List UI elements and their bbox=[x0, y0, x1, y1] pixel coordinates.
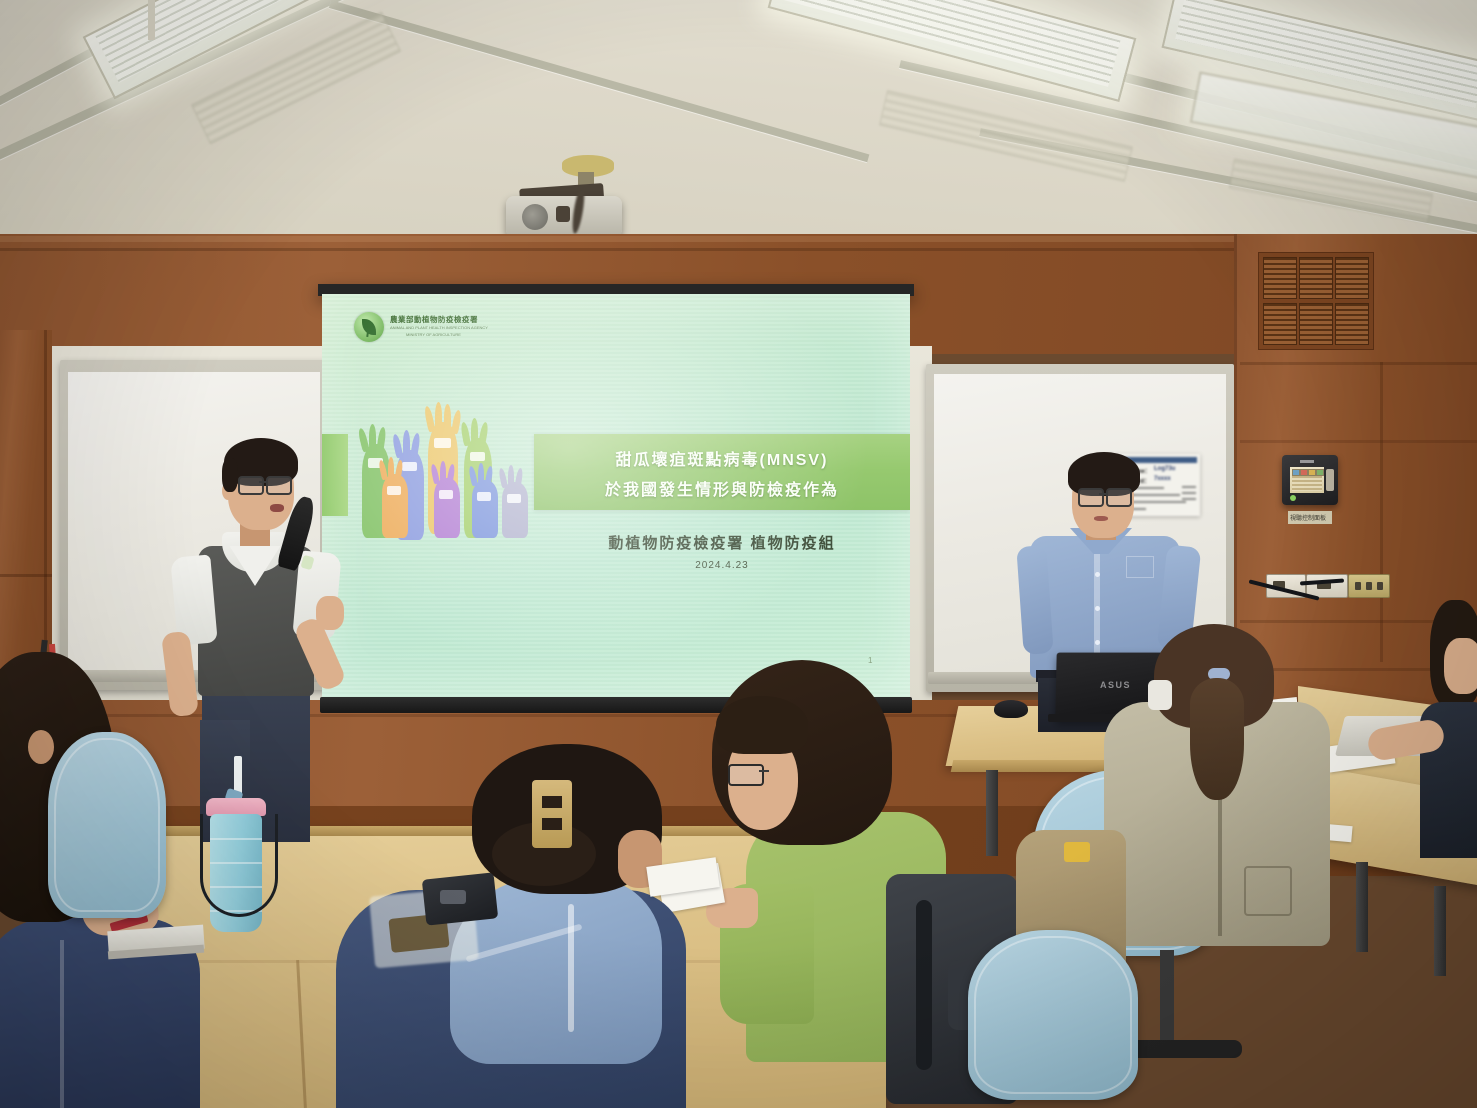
vent-louver bbox=[1299, 303, 1333, 345]
backpack-strap bbox=[916, 900, 932, 1070]
hair-clip-notch bbox=[542, 818, 562, 830]
presenter-glasses-bridge bbox=[259, 481, 267, 483]
host-glasses-bridge bbox=[1099, 493, 1107, 495]
projector-lens bbox=[522, 204, 548, 230]
tumbler-strap[interactable] bbox=[200, 814, 278, 917]
computer-mouse[interactable] bbox=[994, 700, 1028, 718]
host-glasses-right-lens bbox=[1106, 488, 1132, 507]
ceiling-tag bbox=[148, 0, 155, 40]
jacket-tag bbox=[1064, 842, 1090, 862]
attendee-far-right-face bbox=[1444, 638, 1477, 694]
projector-vent bbox=[556, 206, 570, 222]
presenter-hair-side bbox=[222, 458, 238, 492]
host-shirt-button bbox=[1095, 640, 1100, 645]
outlet-socket[interactable] bbox=[1366, 582, 1372, 590]
presenter-mouth bbox=[270, 504, 284, 512]
outlet-socket[interactable] bbox=[1377, 582, 1383, 590]
attendee-green-glasses-bridge bbox=[759, 770, 769, 772]
chair-stem bbox=[1160, 950, 1174, 1046]
wall-seam bbox=[1380, 362, 1383, 662]
attendee-navy-hood-drawstring bbox=[568, 904, 574, 1032]
attendee-left-ear bbox=[28, 730, 54, 764]
wall-seam bbox=[0, 574, 52, 577]
table-leg bbox=[1434, 886, 1446, 976]
attendee-khaki-ponytail bbox=[1190, 678, 1244, 800]
wall-seam bbox=[1240, 362, 1477, 365]
chair-edge-trim bbox=[974, 936, 1132, 1094]
host-mouth bbox=[1094, 516, 1108, 521]
presenter-glasses-left-lens bbox=[238, 476, 264, 495]
attendee-left-shirt-seam bbox=[60, 940, 64, 1108]
attendee-khaki-face-mask bbox=[1148, 680, 1172, 710]
vent-louver bbox=[1263, 257, 1297, 299]
chair-edge-trim bbox=[54, 738, 160, 912]
vent-louver bbox=[1299, 257, 1333, 299]
control-panel-label-plate: 視聽控制面板 bbox=[1288, 511, 1332, 524]
attendee-green-hair-front bbox=[716, 696, 808, 754]
presenter-hand bbox=[316, 596, 344, 630]
control-key[interactable] bbox=[1316, 469, 1324, 476]
meeting-room-photo: 帳號 Username： Log73u 密碼 Password： 7xxxx bbox=[0, 0, 1477, 1108]
av-wall-control-panel[interactable] bbox=[1282, 455, 1338, 505]
hair-clip-notch bbox=[542, 796, 562, 808]
presenter-glasses-right-lens bbox=[266, 476, 292, 495]
projection-screen: 農業部動植物防疫檢疫署 ANIMAL AND PLANT HEALTH INSP… bbox=[322, 294, 910, 698]
presentation-slide: 農業部動植物防疫檢疫署 ANIMAL AND PLANT HEALTH INSP… bbox=[322, 294, 910, 698]
wall-outlet-plate-gold[interactable] bbox=[1348, 574, 1390, 598]
projection-hotspot bbox=[322, 294, 910, 698]
control-panel-label-text: 視聽控制面板 bbox=[1290, 513, 1326, 522]
vent-louver bbox=[1335, 303, 1369, 345]
control-readout bbox=[1292, 476, 1322, 491]
control-key[interactable] bbox=[1300, 469, 1308, 476]
wall-seam bbox=[1240, 440, 1477, 443]
vent-louver bbox=[1263, 303, 1297, 345]
host-shirt-button bbox=[1095, 572, 1100, 577]
office-chair-back[interactable] bbox=[48, 732, 166, 918]
host-shirt-pocket bbox=[1126, 556, 1154, 578]
collapsible-tumbler[interactable] bbox=[204, 788, 268, 936]
control-panel-screen[interactable] bbox=[1290, 467, 1324, 493]
attendee-khaki-pocket bbox=[1244, 866, 1292, 916]
eyeglass-case-clasp bbox=[440, 890, 466, 904]
control-key[interactable] bbox=[1292, 469, 1300, 476]
control-panel-led bbox=[1290, 495, 1296, 501]
attendee-khaki bbox=[1104, 616, 1334, 946]
control-panel-brand bbox=[1300, 460, 1314, 463]
host-shirt-button bbox=[1095, 606, 1100, 611]
attendee-green-glasses-lens bbox=[728, 764, 764, 786]
table-leg bbox=[1356, 862, 1368, 952]
host-glasses-left-lens bbox=[1078, 488, 1104, 507]
table-leg bbox=[986, 770, 998, 856]
control-panel-sidebar[interactable] bbox=[1326, 469, 1334, 491]
office-chair-back[interactable] bbox=[968, 930, 1138, 1100]
outlet-socket[interactable] bbox=[1355, 582, 1361, 590]
hair-clip bbox=[532, 780, 572, 848]
vent-louver bbox=[1335, 257, 1369, 299]
wall-vent-panel bbox=[1258, 252, 1374, 350]
control-key[interactable] bbox=[1308, 469, 1316, 476]
